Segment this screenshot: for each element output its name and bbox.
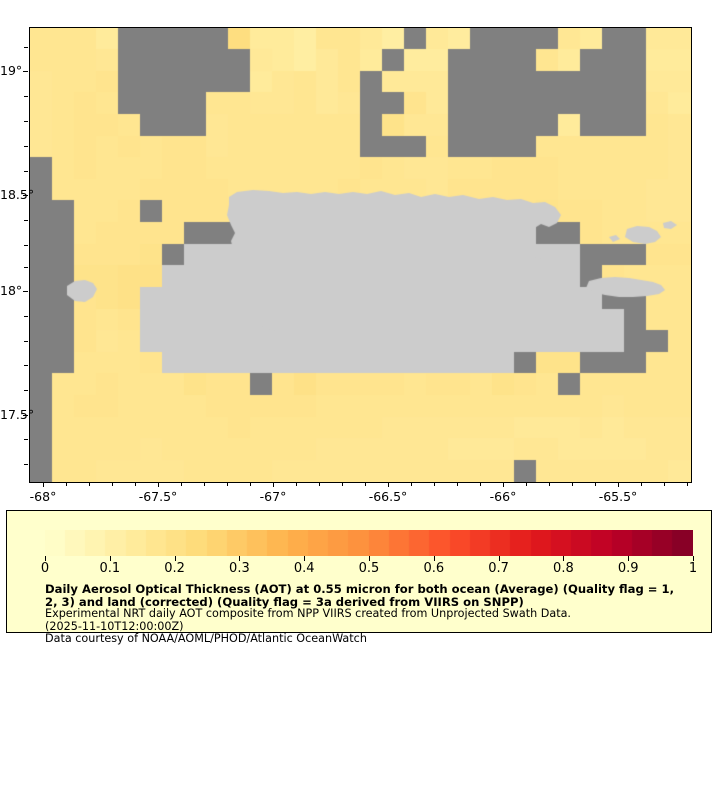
x-minor-tick-22 bbox=[687, 482, 688, 486]
colorbar-tick-label-2: 0.2 bbox=[145, 561, 205, 576]
x-tick-label-4: -66° bbox=[463, 489, 543, 504]
colorbar-tick-label-7: 0.7 bbox=[469, 561, 529, 576]
legend-credit: Data courtesy of NOAA/AOML/PHOD/Atlantic… bbox=[45, 633, 705, 645]
x-tick-4 bbox=[503, 482, 504, 487]
x-minor-tick-21 bbox=[664, 482, 665, 486]
y-tick-0 bbox=[23, 71, 28, 72]
x-tick-label-5: -65.5° bbox=[578, 489, 658, 504]
y-tick-label-3: 17.5° bbox=[0, 407, 20, 422]
colorbar-tick-label-3: 0.3 bbox=[209, 561, 269, 576]
legend-title-line-1: Daily Aerosol Optical Thickness (AOT) at… bbox=[45, 583, 705, 596]
x-minor-tick-7 bbox=[250, 482, 251, 486]
x-minor-tick-6 bbox=[227, 482, 228, 486]
colorbar-tick-label-8: 0.8 bbox=[533, 561, 593, 576]
y-minor-tick-2 bbox=[24, 121, 28, 122]
colorbar-tick-label-10: 1 bbox=[663, 561, 720, 576]
y-tick-label-2: 18° bbox=[0, 283, 20, 298]
y-minor-tick-3 bbox=[24, 146, 28, 147]
x-tick-label-0: -68° bbox=[3, 489, 83, 504]
x-tick-0 bbox=[43, 482, 44, 487]
colorbar-gradient bbox=[45, 530, 693, 556]
x-minor-tick-17 bbox=[549, 482, 550, 486]
y-minor-tick-6 bbox=[24, 245, 28, 246]
x-tick-label-2: -67° bbox=[233, 489, 313, 504]
y-minor-tick-13 bbox=[24, 464, 28, 465]
colorbar-tick-label-1: 0.1 bbox=[80, 561, 140, 576]
x-minor-tick-13 bbox=[434, 482, 435, 486]
y-tick-label-0: 19° bbox=[0, 63, 20, 78]
legend-text-block: Daily Aerosol Optical Thickness (AOT) at… bbox=[45, 583, 705, 645]
y-minor-tick-1 bbox=[24, 96, 28, 97]
x-tick-label-3: -66.5° bbox=[348, 489, 428, 504]
y-minor-tick-5 bbox=[24, 220, 28, 221]
x-minor-tick-12 bbox=[411, 482, 412, 486]
y-tick-label-1: 18.5° bbox=[0, 187, 20, 202]
x-minor-tick-14 bbox=[457, 482, 458, 486]
y-minor-tick-11 bbox=[24, 390, 28, 391]
x-minor-tick-11 bbox=[365, 482, 366, 486]
x-minor-tick-9 bbox=[319, 482, 320, 486]
x-tick-2 bbox=[273, 482, 274, 487]
y-minor-tick-10 bbox=[24, 365, 28, 366]
colorbar-tick-label-4: 0.4 bbox=[274, 561, 334, 576]
colorbar[interactable] bbox=[45, 530, 693, 556]
x-minor-tick-1 bbox=[89, 482, 90, 486]
colorbar-tick-label-6: 0.6 bbox=[404, 561, 464, 576]
x-minor-tick-19 bbox=[595, 482, 596, 486]
x-minor-tick-15 bbox=[480, 482, 481, 486]
colorbar-tick-label-5: 0.5 bbox=[339, 561, 399, 576]
colorbar-tick-label-0: 0 bbox=[15, 561, 75, 576]
x-minor-tick-4 bbox=[181, 482, 182, 486]
x-minor-tick-18 bbox=[572, 482, 573, 486]
y-minor-tick-7 bbox=[24, 267, 28, 268]
x-minor-tick-0 bbox=[66, 482, 67, 486]
aot-map-page: -68°-67.5°-67°-66.5°-66°-65.5° 19°18.5°1… bbox=[0, 0, 720, 800]
y-minor-tick-12 bbox=[24, 439, 28, 440]
y-tick-2 bbox=[23, 291, 28, 292]
legend-subtitle-line-1: Experimental NRT daily AOT composite fro… bbox=[45, 608, 705, 620]
x-minor-tick-2 bbox=[112, 482, 113, 486]
x-minor-tick-20 bbox=[641, 482, 642, 486]
x-tick-1 bbox=[158, 482, 159, 487]
aot-heatmap-canvas[interactable] bbox=[30, 28, 691, 482]
x-minor-tick-16 bbox=[526, 482, 527, 486]
y-minor-tick-9 bbox=[24, 341, 28, 342]
x-minor-tick-10 bbox=[342, 482, 343, 486]
x-tick-3 bbox=[388, 482, 389, 487]
x-minor-tick-8 bbox=[296, 482, 297, 486]
x-minor-tick-3 bbox=[135, 482, 136, 486]
x-minor-tick-5 bbox=[204, 482, 205, 486]
x-tick-label-1: -67.5° bbox=[118, 489, 198, 504]
colorbar-tick-label-9: 0.9 bbox=[598, 561, 658, 576]
y-minor-tick-4 bbox=[24, 171, 28, 172]
map-plot-area[interactable] bbox=[29, 27, 692, 483]
y-minor-tick-8 bbox=[24, 316, 28, 317]
x-tick-5 bbox=[618, 482, 619, 487]
y-minor-tick-0 bbox=[24, 47, 28, 48]
legend-panel: 00.10.20.30.40.50.60.70.80.91 Daily Aero… bbox=[6, 510, 712, 633]
